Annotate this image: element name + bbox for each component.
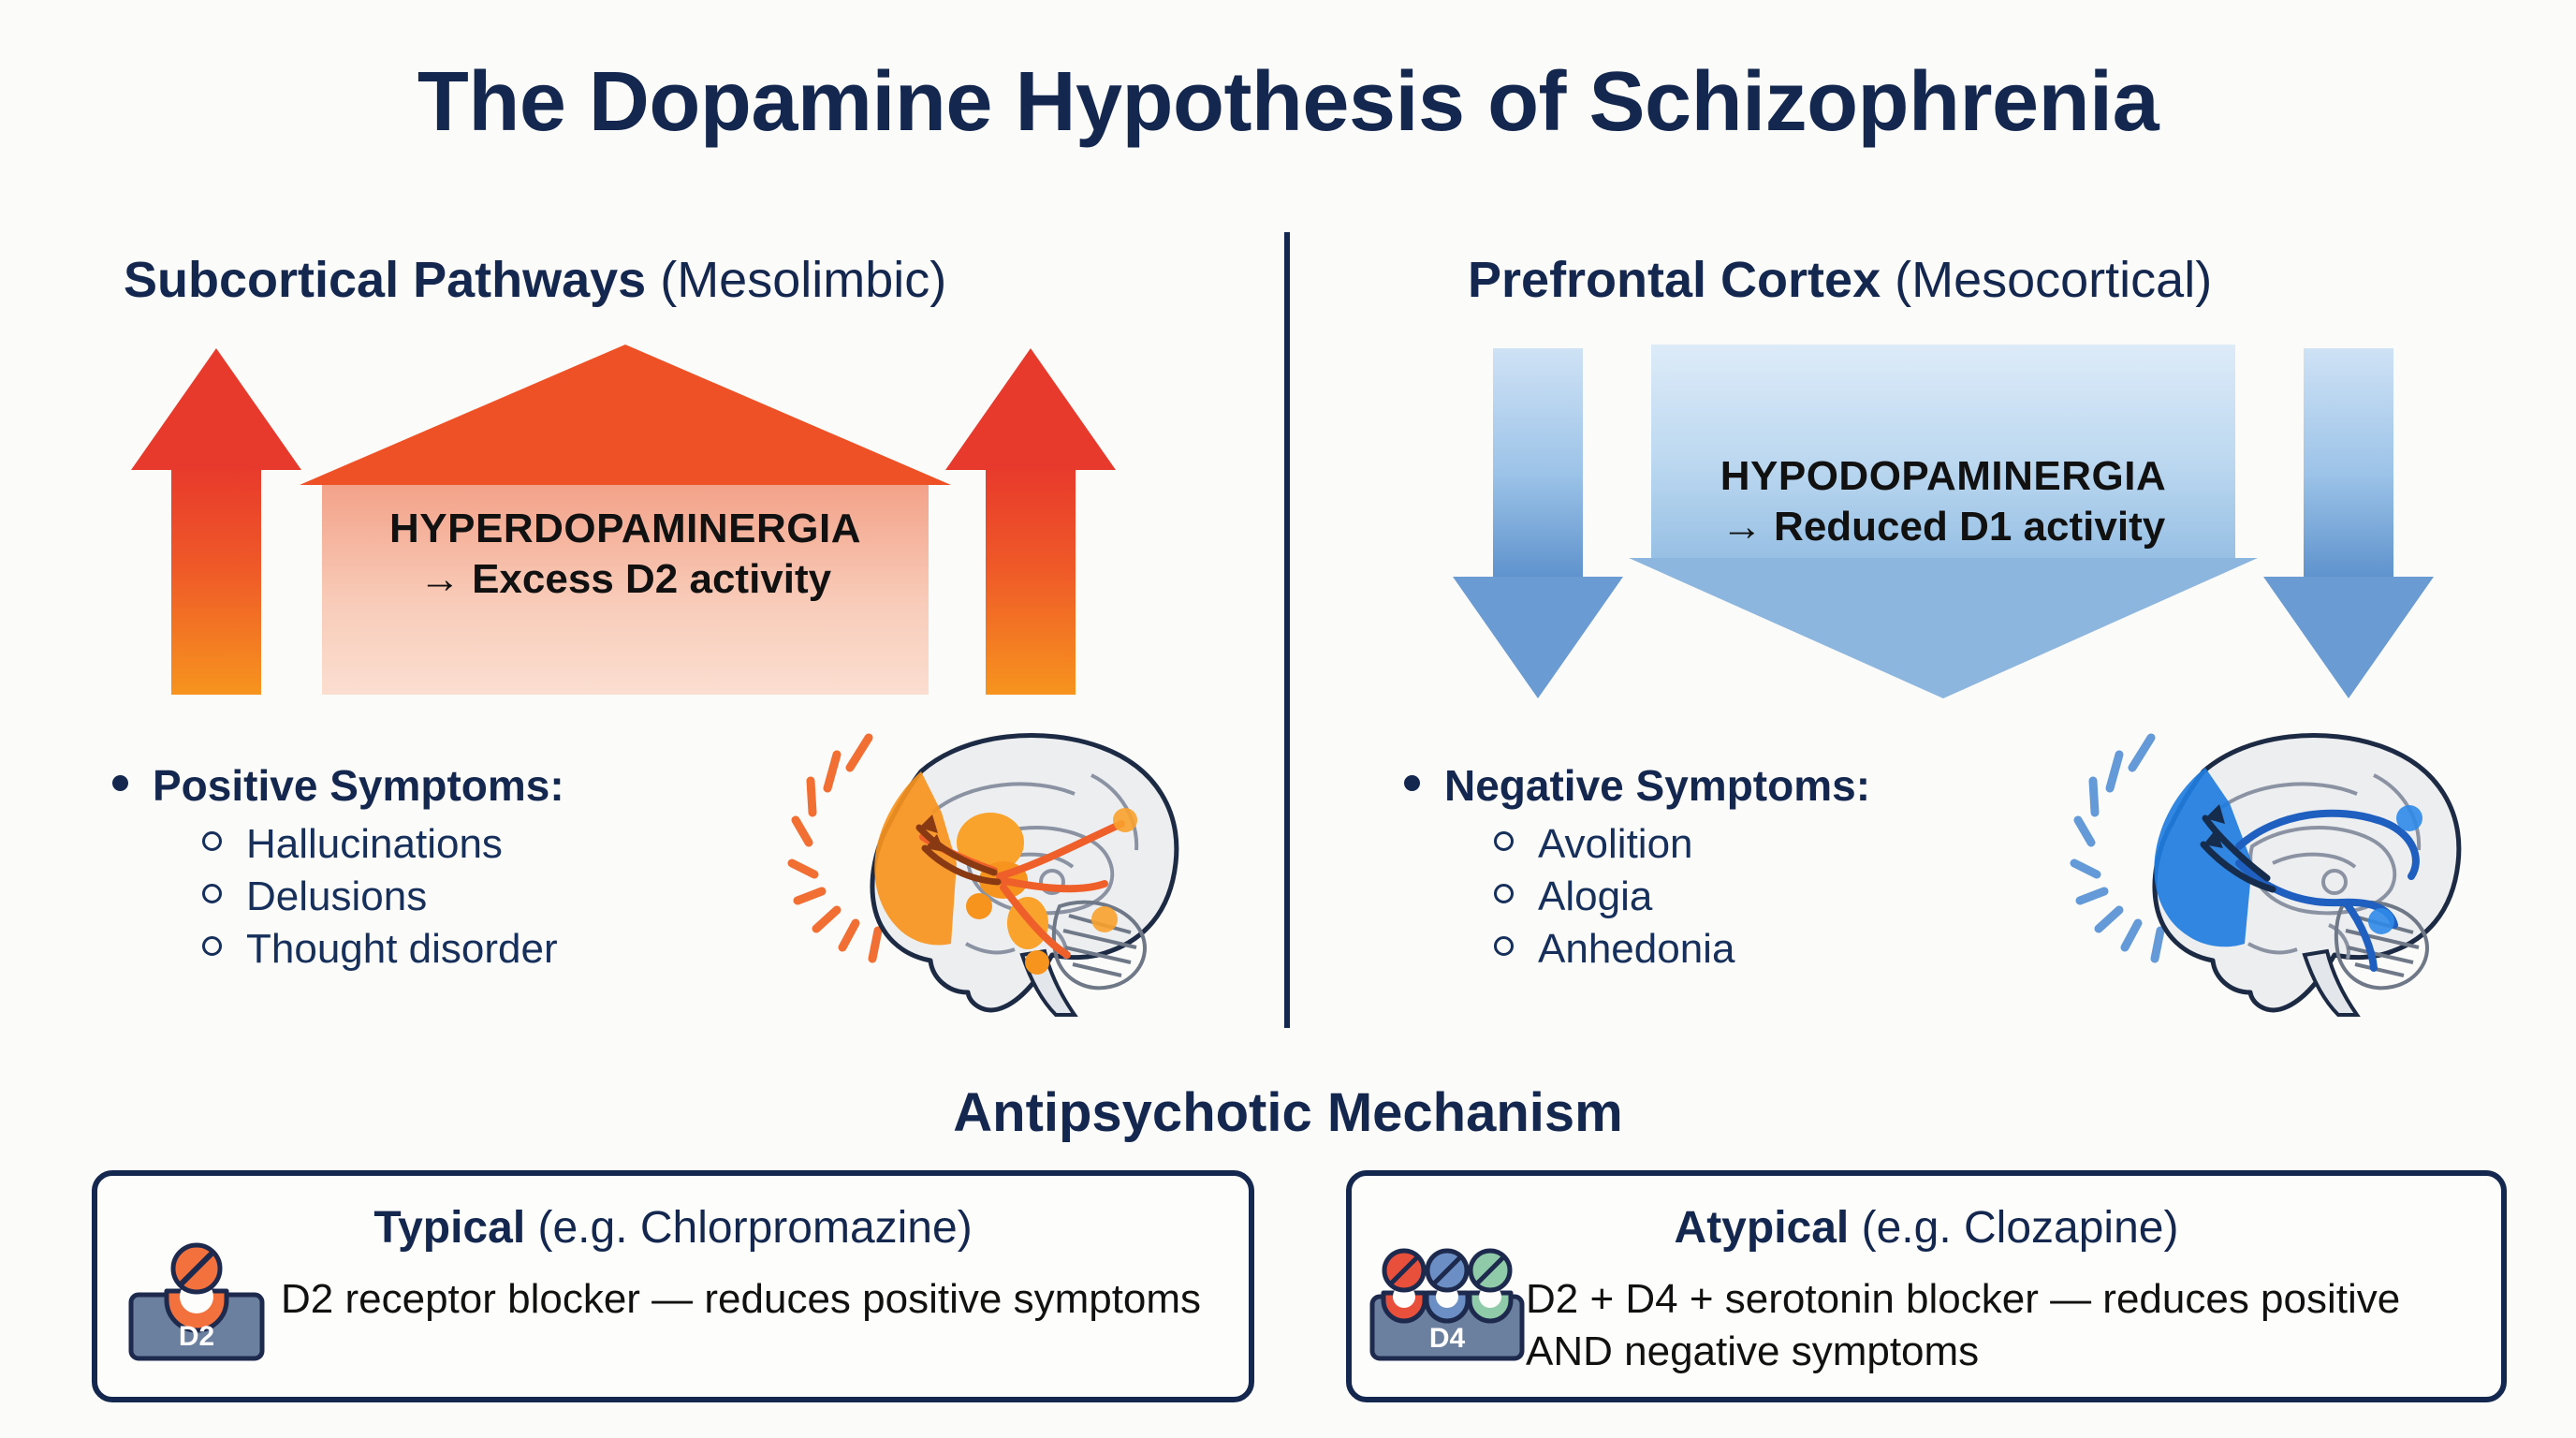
receptor-label: D4 — [1429, 1323, 1466, 1354]
list-item: Anhedonia — [1494, 929, 1870, 970]
list-item-label: Anhedonia — [1538, 926, 1734, 972]
atypical-card-body: D2 + D4 + serotonin blocker — reduces po… — [1526, 1273, 2490, 1379]
atypical-title-strong: Atypical — [1675, 1203, 1850, 1253]
atypical-antipsychotic-card[interactable]: Atypical (e.g. Clozapine) D2 + D4 + sero… — [1346, 1170, 2507, 1402]
bullet-ring-icon — [1494, 936, 1514, 956]
arrow-head-icon — [1453, 577, 1623, 698]
d2-receptor-blocker-icon: D2 — [122, 1242, 271, 1371]
bullet-ring-icon — [1494, 831, 1514, 851]
negative-symptoms-list: Avolition Alogia Anhedonia — [1494, 824, 1870, 970]
brain-sagittal-blue-icon — [2065, 723, 2477, 1027]
receptor-label: D2 — [179, 1321, 214, 1352]
blue-down-arrow-right — [2263, 348, 2434, 698]
caption-line-2: → Reduced D1 activity — [1629, 502, 2258, 552]
typical-antipsychotic-card[interactable]: Typical (e.g. Chlorpromazine) D2 recepto… — [92, 1170, 1254, 1402]
arrow-head-icon — [1629, 558, 2258, 698]
bullet-ring-icon — [1494, 884, 1514, 903]
arrow-shaft — [2304, 348, 2393, 577]
typical-title-light: (e.g. Chlorpromazine) — [538, 1203, 973, 1253]
atypical-title-light: (e.g. Clozapine) — [1862, 1203, 2179, 1253]
caption-line-1: HYPODOPAMINERGIA — [1629, 451, 2258, 502]
typical-title-strong: Typical — [373, 1203, 525, 1253]
list-item-label: Avolition — [1538, 821, 1693, 867]
list-item-label: Alogia — [1538, 873, 1652, 919]
arrow-shaft — [1493, 348, 1583, 577]
hypodopaminergia-caption: HYPODOPAMINERGIA → Reduced D1 activity — [1629, 451, 2258, 551]
mechanism-section-title: Antipsychotic Mechanism — [0, 1081, 2576, 1144]
negative-symptoms-block: Negative Symptoms: Avolition Alogia Anhe… — [1404, 760, 1870, 981]
negative-symptoms-heading: Negative Symptoms: — [1404, 760, 1870, 811]
typical-card-body: D2 receptor blocker — reduces positive s… — [281, 1273, 1226, 1326]
arrow-head-icon — [2263, 577, 2434, 698]
bullet-dot-icon — [1404, 775, 1420, 791]
blue-down-arrow-left — [1453, 348, 1623, 698]
d4-receptor-blocker-icon: D4 — [1367, 1242, 1528, 1371]
negative-symptoms-heading-label: Negative Symptoms: — [1444, 761, 1870, 810]
list-item: Alogia — [1494, 876, 1870, 917]
infographic-canvas: The Dopamine Hypothesis of Schizophrenia… — [0, 0, 2576, 1438]
list-item: Avolition — [1494, 824, 1870, 865]
